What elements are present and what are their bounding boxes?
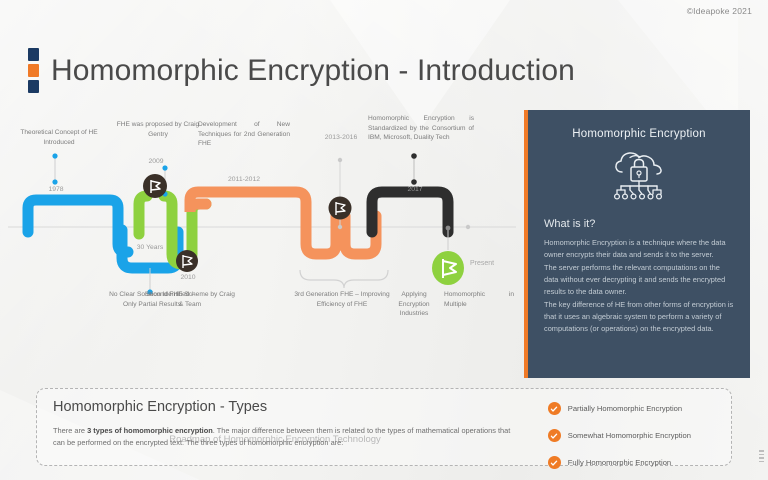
milestone-year-2017: 2017 bbox=[394, 186, 436, 193]
milestone-label-1978: Theoretical Concept of HE Introduced bbox=[14, 128, 104, 147]
list-item[interactable]: Somewhat Homomorphic Encryption bbox=[548, 429, 691, 442]
flag-badge-present[interactable] bbox=[432, 251, 464, 285]
info-panel-subheading: What is it? bbox=[544, 218, 736, 230]
marker-dot-1978-top bbox=[52, 153, 57, 158]
milestone-year-30-years: 30 Years bbox=[124, 244, 176, 251]
info-paragraph-3: The key difference of HE from other form… bbox=[544, 299, 736, 335]
milestone-label-2017: Homomorphic Encryption is Standardized b… bbox=[368, 114, 474, 143]
marker-dot-present-top bbox=[446, 226, 451, 231]
types-panel-description: There are 3 types of homomorphic encrypt… bbox=[53, 425, 513, 449]
info-paragraph-2: The server performs the relevant computa… bbox=[544, 262, 736, 298]
segment-2009-left bbox=[139, 196, 147, 234]
types-list: Partially Homomorphic Encryption Somewha… bbox=[548, 402, 691, 469]
info-panel-title: Homomorphic Encryption bbox=[542, 128, 736, 140]
type-label: Partially Homomorphic Encryption bbox=[568, 404, 682, 413]
types-panel: Homomorphic Encryption - Types There are… bbox=[36, 388, 732, 466]
types-desc-pre: There are bbox=[53, 426, 87, 435]
cloud-lock-network-icon bbox=[542, 148, 736, 206]
roadmap-timeline: Theoretical Concept of HE Introduced 197… bbox=[0, 104, 524, 374]
marker-dot-2013-bottom bbox=[338, 225, 342, 229]
segment-2017 bbox=[372, 192, 448, 232]
page-title: Homomorphic Encryption - Introduction bbox=[51, 54, 575, 88]
milestone-year-present: Present bbox=[470, 260, 494, 267]
type-label: Somewhat Homomorphic Encryption bbox=[568, 431, 691, 440]
milestone-label-2009: FHE was proposed by Craig Gentry bbox=[112, 120, 204, 139]
marker-dot-2011-top bbox=[162, 165, 167, 170]
list-item[interactable]: Partially Homomorphic Encryption bbox=[548, 402, 691, 415]
segment-2011-2012 bbox=[190, 192, 336, 254]
info-panel-body: Homomorphic Encryption is a technique wh… bbox=[544, 237, 736, 335]
flag-badge-2010[interactable] bbox=[176, 250, 198, 272]
slide-header: Homomorphic Encryption - Introduction bbox=[28, 48, 575, 93]
marker-dot-2017-top bbox=[411, 153, 417, 159]
milestone-year-1978: 1978 bbox=[30, 186, 82, 193]
copyright-text: ©Ideapoke 2021 bbox=[687, 6, 752, 16]
page-indicator bbox=[759, 450, 764, 462]
segment-1978 bbox=[28, 200, 128, 252]
milestone-label-present: Applying Encryption Industries bbox=[386, 290, 442, 319]
milestone-year-2009: 2009 bbox=[134, 158, 178, 165]
ideapoke-logo-bars-icon bbox=[28, 48, 39, 93]
marker-dot-2017-bottom bbox=[411, 179, 417, 185]
milestone-label-2010: Second FHE Scheme by Craig & Team bbox=[142, 290, 238, 309]
types-text-block: Homomorphic Encryption - Types There are… bbox=[53, 399, 513, 449]
check-icon bbox=[548, 456, 561, 469]
milestone-label-present-2: Homomorphic in Multiple bbox=[444, 290, 514, 309]
info-panel: Homomorphic Encryption bbox=[524, 110, 750, 378]
milestone-label-2013-2016: 3rd Generation FHE – Improving Efficienc… bbox=[292, 290, 392, 309]
slide-canvas: ©Ideapoke 2021 Homomorphic Encryption - … bbox=[0, 0, 768, 480]
milestone-label-2011-2012: Development of New Techniques for 2nd Ge… bbox=[198, 120, 290, 149]
milestone-year-2010: 2010 bbox=[166, 274, 210, 281]
milestone-year-2011-2012: 2011-2012 bbox=[214, 176, 274, 183]
marker-dot-1978-bottom bbox=[52, 179, 57, 184]
milestone-year-2013-2016: 2013-2016 bbox=[310, 134, 372, 141]
types-desc-bold: 3 types of homomorphic encryption bbox=[87, 426, 213, 435]
marker-dot-axis-end bbox=[466, 225, 470, 229]
third-gen-brace bbox=[300, 270, 388, 288]
types-panel-title: Homomorphic Encryption - Types bbox=[53, 399, 513, 415]
check-icon bbox=[548, 429, 561, 442]
list-item[interactable]: Fully Homomorphic Encryption bbox=[548, 456, 691, 469]
info-paragraph-1: Homomorphic Encryption is a technique wh… bbox=[544, 237, 736, 261]
flag-badge-2009[interactable] bbox=[143, 174, 167, 198]
type-label: Fully Homomorphic Encryption bbox=[568, 458, 671, 467]
check-icon bbox=[548, 402, 561, 415]
marker-dot-2013-top bbox=[338, 158, 342, 162]
flag-badge-2013-2016[interactable] bbox=[329, 197, 352, 220]
